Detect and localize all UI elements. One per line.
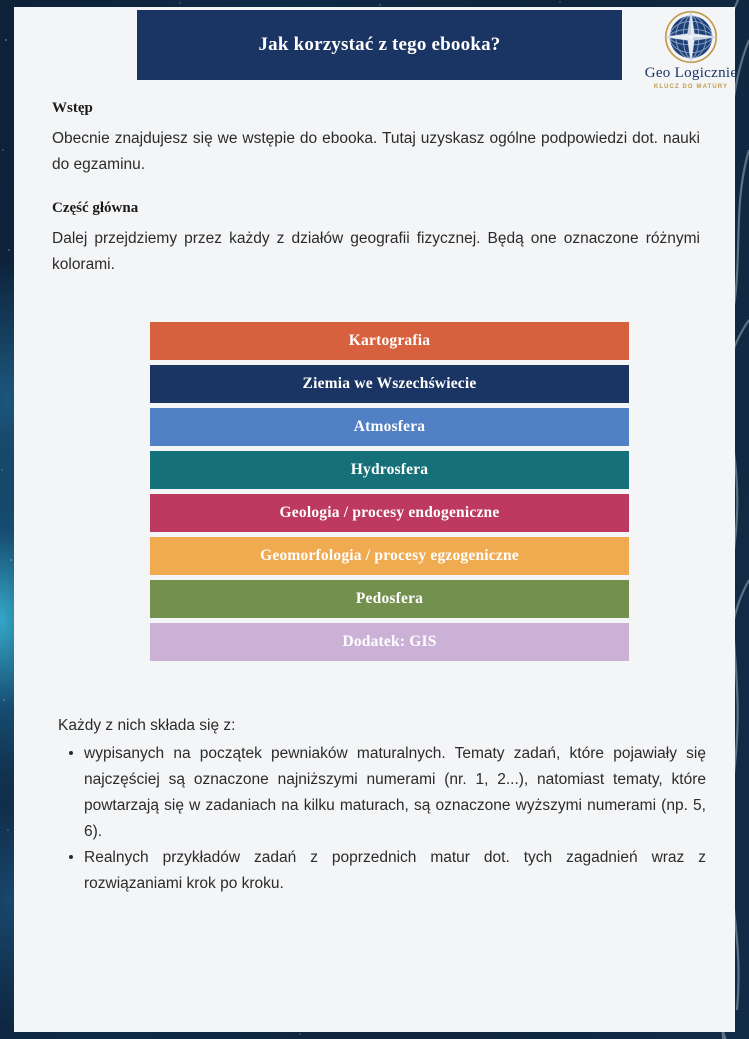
chapter-bar-label: Pedosfera [356, 590, 423, 608]
bullet-dot-icon [69, 751, 73, 755]
brand-name: Geo Logicznie [645, 65, 738, 82]
list-intro-text: Każdy z nich składa się z: [58, 713, 706, 739]
page-sheet: Jak korzystać z tego ebooka? [14, 7, 735, 1032]
list-item: Realnych przykładów zadań z poprzednich … [84, 845, 706, 897]
chapter-bar-label: Hydrosfera [351, 461, 428, 479]
chapter-bar[interactable]: Dodatek: GIS [150, 623, 629, 661]
section-paragraph-czesc-glowna: Dalej przejdziemy przez każdy z działów … [52, 226, 700, 278]
chapter-bar[interactable]: Hydrosfera [150, 451, 629, 489]
section-paragraph-wstep: Obecnie znajdujesz się we wstępie do ebo… [52, 126, 700, 178]
section-heading-czesc-glowna: Część główna [52, 200, 700, 217]
page-header-band: Jak korzystać z tego ebooka? [137, 10, 622, 80]
brand-tagline: KLUCZ DO MATURY [654, 84, 728, 90]
list-item-text: Realnych przykładów zadań z poprzednich … [84, 849, 706, 892]
chapter-bar[interactable]: Ziemia we Wszechświecie [150, 365, 629, 403]
intro-content: Wstęp Obecnie znajdujesz się we wstępie … [52, 100, 700, 278]
summary-list-block: Każdy z nich składa się z: wypisanych na… [58, 713, 706, 897]
chapter-bar-label: Kartografia [349, 332, 430, 350]
chapter-bar-label: Ziemia we Wszechświecie [303, 375, 477, 393]
chapter-bar-label: Atmosfera [354, 418, 426, 436]
chapter-bar-label: Geologia / procesy endogeniczne [280, 504, 500, 522]
chapter-bar-list: KartografiaZiemia we WszechświecieAtmosf… [150, 322, 629, 666]
brand-logo: Geo Logicznie KLUCZ DO MATURY [636, 9, 746, 97]
page-title: Jak korzystać z tego ebooka? [258, 34, 500, 56]
bullet-list: wypisanych na początek pewniaków matural… [58, 741, 706, 897]
chapter-bar[interactable]: Geologia / procesy endogeniczne [150, 494, 629, 532]
chapter-bar-label: Dodatek: GIS [342, 633, 436, 651]
chapter-bar[interactable]: Geomorfologia / procesy egzogeniczne [150, 537, 629, 575]
chapter-bar[interactable]: Pedosfera [150, 580, 629, 618]
bullet-dot-icon [69, 855, 73, 859]
chapter-bar-label: Geomorfologia / procesy egzogeniczne [260, 547, 519, 565]
list-item-text: wypisanych na początek pewniaków matural… [84, 745, 706, 840]
chapter-bar[interactable]: Kartografia [150, 322, 629, 360]
chapter-bar[interactable]: Atmosfera [150, 408, 629, 446]
section-heading-wstep: Wstęp [52, 100, 700, 117]
compass-globe-icon [663, 9, 719, 65]
list-item: wypisanych na początek pewniaków matural… [84, 741, 706, 845]
